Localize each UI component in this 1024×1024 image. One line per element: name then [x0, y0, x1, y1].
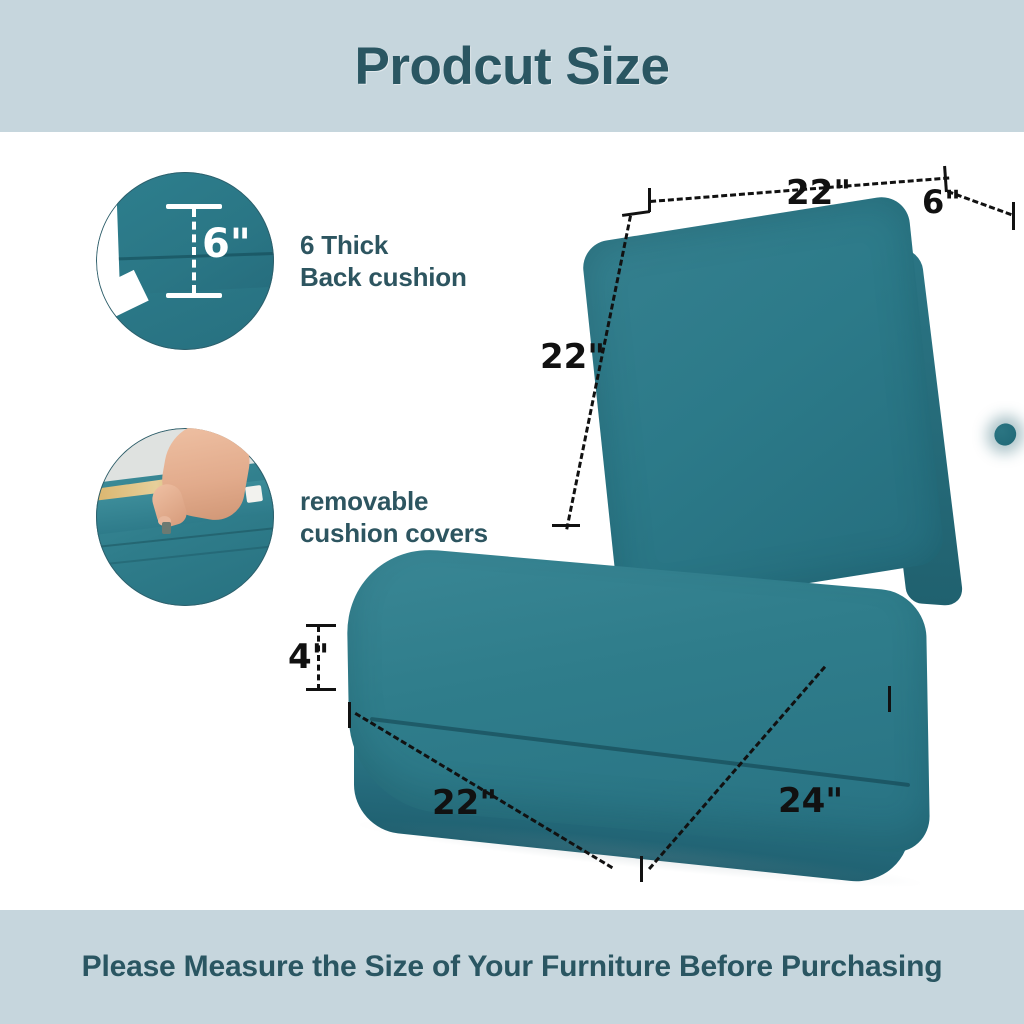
- fabric-tag: [245, 485, 263, 503]
- dimension-tick: [888, 686, 891, 712]
- header-band: Prodcut Size: [0, 0, 1024, 132]
- zipper-hand-photo: [96, 428, 274, 606]
- tufted-button-icon: [993, 422, 1017, 447]
- dimension-value-back-width: 22": [786, 176, 851, 210]
- dimension-value-back-depth: 6": [922, 186, 961, 218]
- footer-message: Please Measure the Size of Your Furnitur…: [42, 949, 983, 984]
- dimension-value-seat-thickness: 4": [288, 640, 329, 674]
- dimension-tick: [306, 688, 336, 691]
- dimension-tick: [348, 702, 351, 728]
- footer-band: Please Measure the Size of Your Furnitur…: [0, 910, 1024, 1024]
- dimension-tick: [306, 624, 336, 627]
- dimension-value-seat-depth: 24": [778, 784, 843, 818]
- dimension-tick: [1012, 202, 1015, 230]
- dimension-value-back-height: 22": [540, 340, 605, 374]
- dimension-tick: [552, 524, 580, 527]
- product-size-infographic: Prodcut Size 6" 6 Thick Back cushion: [0, 0, 1024, 1024]
- page-title: Prodcut Size: [354, 40, 669, 93]
- back-cushion-front-face: [581, 193, 946, 613]
- dimension-tick: [648, 188, 651, 212]
- dimension-value-seat-width: 22": [432, 786, 497, 820]
- cushion-thickness-photo: 6": [96, 172, 274, 350]
- dimension-tick: [640, 856, 643, 882]
- product-illustration: [330, 150, 970, 910]
- thickness-value-label: 6": [202, 224, 251, 264]
- zipper-pull-icon: [162, 522, 171, 534]
